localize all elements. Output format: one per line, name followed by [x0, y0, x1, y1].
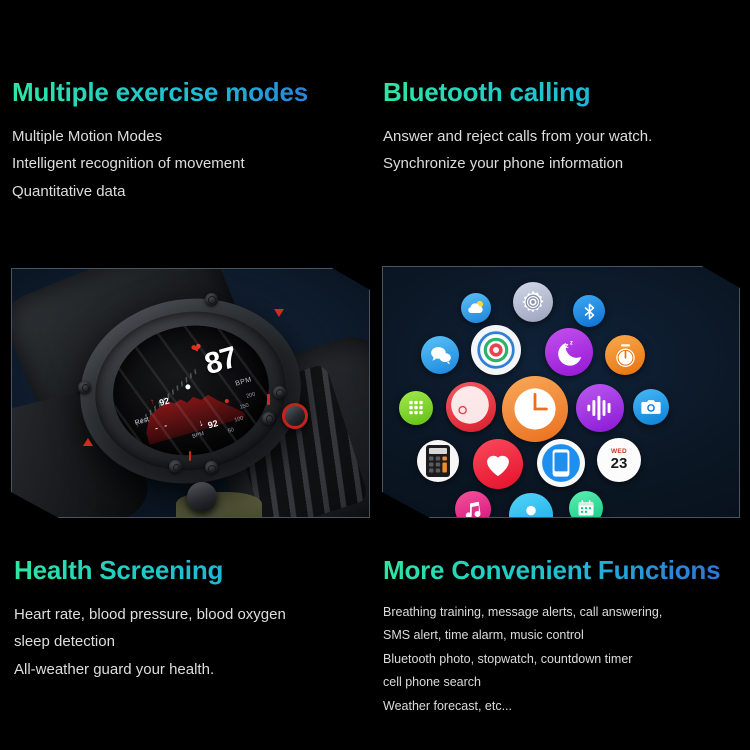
contacts-icon[interactable]: [509, 493, 553, 517]
watch-photo: ❤ 87 BPM ↑ 92 ↓ 92 Rest - - BPM 200 150: [12, 269, 369, 517]
music-icon[interactable]: [455, 491, 491, 517]
functions-line-4: cell phone search: [383, 671, 749, 695]
watch-screw-bottom-right: [205, 461, 218, 474]
graph-point-peak: [225, 398, 230, 403]
functions-line-3: Bluetooth photo, stopwatch, countdown ti…: [383, 648, 749, 672]
sleep-moon-icon[interactable]: z z z: [545, 328, 593, 376]
heart-rate-value: 87: [201, 341, 241, 382]
stopwatch-icon[interactable]: [605, 335, 645, 375]
heart-rate-unit: BPM: [234, 376, 252, 387]
axis-tick-50: 50: [227, 427, 235, 434]
messages-icon[interactable]: [421, 336, 459, 374]
blood-oxygen-icon[interactable]: [446, 382, 496, 432]
graph-point-current: [185, 384, 191, 390]
axis-tick-150: 150: [239, 403, 249, 411]
phone-find-icon[interactable]: [537, 439, 585, 487]
watch-bottom-button: [187, 482, 217, 512]
watch-screw-top: [205, 293, 218, 306]
bluetooth-line-2: Synchronize your phone information: [383, 150, 743, 178]
bluetooth-icon[interactable]: [573, 295, 605, 327]
accent-mark-right: [267, 394, 270, 405]
accent-triangle-top-right: [274, 309, 284, 317]
watch-photo-panel: ❤ 87 BPM ↑ 92 ↓ 92 Rest - - BPM 200 150: [11, 268, 370, 518]
screen-glare: [104, 316, 277, 466]
heart-icon: ❤: [189, 339, 204, 357]
calendar-day: 23: [611, 456, 628, 471]
app-icon-cloud: z z z: [383, 267, 739, 517]
section-bluetooth-calling: Bluetooth calling Answer and reject call…: [383, 78, 743, 178]
dial-keypad-icon[interactable]: [399, 391, 433, 425]
svg-text:z: z: [569, 340, 572, 346]
camera-icon[interactable]: [633, 389, 669, 425]
section-exercise-modes: Multiple exercise modes Multiple Motion …: [12, 78, 372, 206]
exercise-line-1: Multiple Motion Modes: [12, 123, 372, 151]
hr-max-arrow-icon: ↑: [148, 396, 155, 407]
functions-line-2: SMS alert, time alarm, music control: [383, 624, 749, 648]
app-icons-panel: z z z: [382, 266, 740, 518]
functions-line-5: Weather forecast, etc...: [383, 695, 749, 719]
watch-screw-bottom-left: [169, 460, 182, 473]
weather-icon[interactable]: [461, 293, 491, 323]
section-health-screening: Health Screening Heart rate, blood press…: [14, 556, 374, 684]
watch-crown: [282, 403, 308, 429]
activity-rings-icon[interactable]: [471, 325, 521, 375]
promo-page: Multiple exercise modes Multiple Motion …: [0, 0, 750, 750]
health-line-3: All-weather guard your health.: [14, 656, 374, 684]
clock-icon[interactable]: [502, 376, 568, 442]
exercise-heading: Multiple exercise modes: [12, 78, 372, 107]
exercise-line-2: Intelligent recognition of movement: [12, 150, 372, 178]
events-icon[interactable]: [569, 491, 603, 517]
voice-memo-icon[interactable]: [576, 384, 624, 432]
bpm-small-label: BPM: [192, 431, 205, 440]
watch-screw-left: [78, 381, 91, 394]
calculator-icon[interactable]: [417, 440, 459, 482]
svg-text:z: z: [564, 340, 568, 349]
heart-rate-icon[interactable]: [473, 439, 523, 489]
watch-button-lower-right: [262, 412, 275, 425]
health-line-1: Heart rate, blood pressure, blood oxygen: [14, 601, 374, 629]
accent-triangle-bottom-left: [83, 438, 93, 446]
functions-line-1: Breathing training, message alerts, call…: [383, 601, 749, 625]
settings-gear-icon[interactable]: [513, 282, 553, 322]
bluetooth-line-1: Answer and reject calls from your watch.: [383, 123, 743, 151]
watch-button-upper-right: [273, 386, 286, 399]
section-more-functions: More Convenient Functions Breathing trai…: [383, 556, 749, 718]
exercise-line-3: Quantitative data: [12, 178, 372, 206]
health-heading: Health Screening: [14, 556, 374, 585]
bluetooth-heading: Bluetooth calling: [383, 78, 743, 107]
axis-tick-200: 200: [246, 391, 256, 399]
watch-screen: ❤ 87 BPM ↑ 92 ↓ 92 Rest - - BPM 200 150: [104, 316, 277, 466]
health-line-2: sleep detection: [14, 628, 374, 656]
svg-text:z: z: [560, 347, 563, 353]
functions-heading: More Convenient Functions: [383, 556, 749, 585]
calendar-icon[interactable]: WED 23: [597, 438, 641, 482]
accent-mark-bottom: [189, 451, 192, 461]
axis-tick-100: 100: [233, 415, 243, 423]
